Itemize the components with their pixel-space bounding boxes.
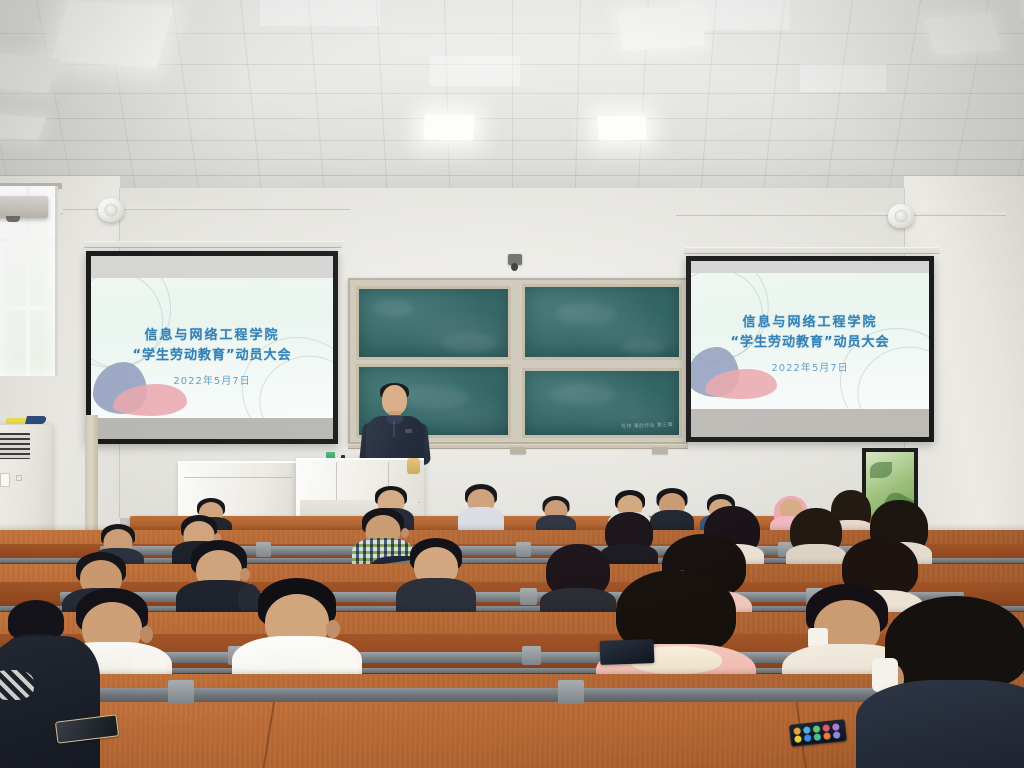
right-slide-date: 2022年5月7日 <box>691 359 929 374</box>
rail-post-1b <box>558 680 584 704</box>
ceiling-conduit-right <box>676 212 1006 216</box>
student-r5-3 <box>458 484 504 534</box>
projector-lens <box>6 216 20 222</box>
sleeve-pattern <box>0 670 34 700</box>
right-slide: 信息与网络工程学院 “学生劳动教育”动员大会 2022年5月7日 <box>691 273 929 409</box>
right-slide-title-line2: “学生劳动教育”动员大会 <box>691 331 929 350</box>
left-projection-screen: 信息与网络工程学院 “学生劳动教育”动员大会 2022年5月7日 <box>86 251 338 444</box>
student-r1-right <box>856 596 1024 768</box>
chalkboard-panel-top-right <box>522 284 682 360</box>
chalkboard-panel-bottom-right: 写作 课后作业 第三章 <box>522 368 682 438</box>
tray-clip-2 <box>510 447 526 454</box>
suspended-ceiling <box>0 0 1024 196</box>
ceiling-camera <box>508 254 522 265</box>
tablet-black[interactable] <box>600 639 655 665</box>
ceiling-projector <box>0 196 48 218</box>
smartphone-colorful-screen <box>790 720 846 746</box>
ac-button[interactable] <box>16 475 22 481</box>
ac-vent <box>0 433 30 459</box>
right-projection-screen: 信息与网络工程学院 “学生劳动教育”动员大会 2022年5月7日 <box>686 256 934 442</box>
chalkboard-panel-top-left <box>356 286 511 360</box>
presenter-shirt-logo <box>405 429 412 433</box>
left-slide: 信息与网络工程学院 “学生劳动教育”动员大会 2022年5月7日 <box>91 278 333 418</box>
rail-post-2b <box>522 646 541 665</box>
rail-post-4b <box>516 542 531 557</box>
student-r1-left <box>0 636 100 768</box>
rail-post-3b <box>520 588 537 605</box>
left-screen-top-band <box>91 256 333 278</box>
student-r2-2 <box>232 578 362 688</box>
wall-speaker-left <box>98 198 124 222</box>
student-r3-2 <box>396 538 476 618</box>
wall-speaker-right <box>888 204 914 228</box>
wall-cable <box>60 196 63 214</box>
ac-control-panel[interactable] <box>0 473 10 487</box>
rail-post-1a <box>168 680 194 704</box>
left-screen-bottom-band <box>91 418 333 444</box>
tray-clip-3 <box>652 447 668 454</box>
left-slide-date: 2022年5月7日 <box>91 372 333 387</box>
left-slide-title-line1: 信息与网络工程学院 <box>91 324 333 343</box>
right-screen-mount <box>684 247 940 254</box>
right-screen-bottom-band <box>691 409 929 442</box>
chalkboard-writing: 写作 课后作业 第三章 <box>621 422 673 430</box>
right-slide-title-line1: 信息与网络工程学院 <box>691 311 929 330</box>
right-screen-top-band <box>691 261 929 273</box>
presenter-shirt-placket <box>393 421 395 437</box>
presenter-hand-object <box>407 458 420 474</box>
lecture-hall-photo: 写作 课后作业 第三章 信息与网络工程学院 “学生劳动教育”动员大会 2022年… <box>0 0 1024 768</box>
left-slide-title-line2: “学生劳动教育”动员大会 <box>91 344 333 363</box>
ceiling-shading <box>0 0 1024 196</box>
left-screen-mount <box>84 241 342 248</box>
presenter <box>360 385 430 465</box>
